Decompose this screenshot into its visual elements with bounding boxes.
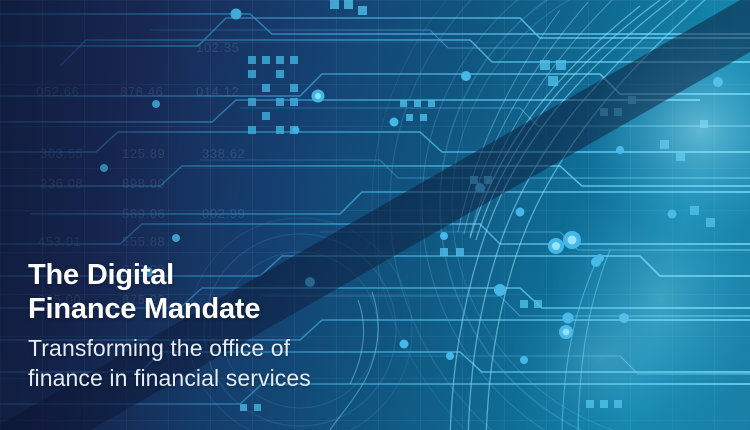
subtitle-line-2: finance in financial services [28,363,311,393]
page-subtitle: Transforming the office of finance in fi… [28,333,311,393]
subtitle-line-1: Transforming the office of [28,333,311,363]
page-title: The Digital Finance Mandate [28,258,311,326]
hero-banner: 102.35014.12052.66878.46303.55125.89338.… [0,0,750,430]
hero-text-block: The Digital Finance Mandate Transforming… [28,258,311,393]
title-line-1: The Digital [28,258,311,292]
title-line-2: Finance Mandate [28,292,311,326]
